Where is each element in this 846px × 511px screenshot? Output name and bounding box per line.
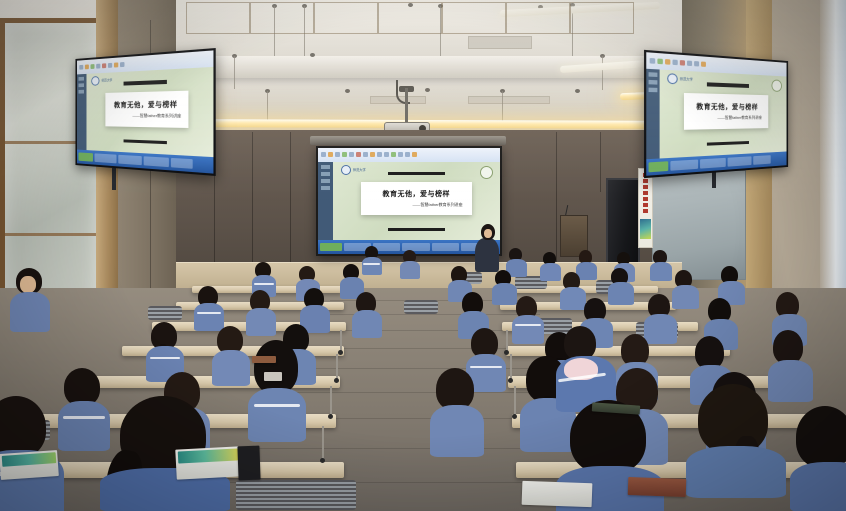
toolbar-icon[interactable] [384, 152, 389, 157]
toolbar-icon[interactable] [335, 152, 340, 157]
taskbar-clock[interactable] [753, 155, 770, 165]
classroom-scene: 师范大学 教育无他，爱与榜样 ——智慧father教育系列讲座 [0, 0, 846, 511]
cabinet-door [186, 2, 250, 34]
toolbar-icon[interactable] [377, 152, 382, 157]
university-seal-icon [92, 76, 100, 86]
start-button[interactable] [649, 161, 669, 172]
cabinet-door [250, 2, 314, 34]
suspension-wire [502, 91, 503, 122]
student-uniform [560, 287, 586, 310]
toolbar-icon[interactable] [672, 59, 677, 65]
panel-seam [556, 132, 557, 262]
panel-seam [600, 132, 601, 192]
slide-title: 教育无他，爱与榜样 [383, 189, 451, 199]
desk-caster [328, 414, 333, 419]
open-textbook [522, 481, 593, 507]
taskbar-item[interactable] [432, 243, 459, 252]
student-uniform [650, 262, 672, 281]
toolbar-icon[interactable] [694, 61, 699, 67]
toolbar-icon[interactable] [356, 152, 361, 157]
device [264, 372, 282, 381]
screen-roller [310, 136, 506, 145]
toolbar-icon[interactable] [90, 64, 94, 69]
panel-seam [252, 132, 253, 282]
slide-bar-bottom [388, 228, 445, 231]
student-uniform [246, 308, 276, 336]
presenter [475, 238, 499, 272]
center-projection-screen[interactable]: 师范大学 教育无他，爱与榜样 ——智慧father教育系列讲座 [316, 146, 502, 256]
student-hair [564, 326, 596, 360]
toolbar-icon[interactable] [96, 63, 100, 68]
cabinet-door [442, 2, 506, 34]
desk-caster [320, 458, 325, 463]
projector-pole [405, 88, 408, 124]
desk-leg [510, 354, 512, 380]
university-seal-icon [341, 165, 351, 175]
toolbar-icon[interactable] [370, 152, 375, 157]
toolbar-icon[interactable] [349, 152, 354, 157]
taskbar-clock[interactable] [171, 158, 192, 169]
student-uniform [608, 282, 634, 305]
desk-leg [340, 330, 342, 352]
slide-title-card: 教育无他，爱与榜样 ——智慧father教育系列讲座 [361, 182, 472, 215]
toolbar-icon[interactable] [102, 63, 106, 68]
wall-poster [638, 168, 653, 248]
slide-subtitle: ——智慧father教育系列讲座 [132, 113, 181, 119]
slide-canvas: 师范大学 教育无他，爱与榜样 ——智慧father教育系列讲座 [86, 66, 213, 157]
toolbar-icon[interactable] [657, 58, 662, 64]
desk-caster [334, 378, 339, 383]
student-uniform [10, 292, 50, 332]
taskbar-item[interactable] [94, 154, 116, 164]
toolbar-icon[interactable] [79, 65, 83, 70]
notebook [237, 446, 260, 481]
ceiling-vent [468, 96, 550, 104]
student-uniform [362, 257, 382, 275]
slide-thumbnail-pane[interactable] [77, 73, 86, 150]
desk-leg [514, 386, 516, 416]
slide-canvas: 师范大学 教育无他，爱与榜样 ——智慧father教育系列讲座 [333, 162, 500, 240]
student-uniform [58, 401, 110, 451]
ceiling-mount [310, 53, 315, 57]
taskbar-item[interactable] [670, 160, 698, 171]
student-uniform [512, 315, 544, 344]
toolbar-icon[interactable] [687, 60, 692, 66]
slide-title-card: 教育无他，爱与榜样 ——智慧father教育系列讲座 [105, 91, 189, 128]
toolbar-icon[interactable] [412, 152, 417, 157]
chair-back [148, 306, 182, 320]
desk-caster [504, 350, 509, 355]
slide-title: 教育无他，爱与榜样 [114, 99, 178, 110]
student-uniform [352, 310, 382, 338]
student-face [20, 276, 36, 293]
student-hair [773, 330, 803, 364]
student-uniform [686, 446, 786, 498]
student-uniform [790, 462, 846, 511]
slide-thumbnail-pane[interactable] [318, 162, 333, 240]
toolbar-icon[interactable] [701, 61, 706, 66]
start-button[interactable] [320, 243, 342, 252]
slide-bar-top [706, 83, 749, 88]
toolbar-icon[interactable] [363, 152, 368, 157]
toolbar-icon[interactable] [328, 152, 333, 157]
cabinet-door [314, 2, 378, 34]
student-hair [796, 406, 846, 468]
suspension-wire [267, 91, 268, 122]
slide-bar-bottom [124, 140, 167, 145]
student-uniform [768, 360, 813, 402]
chair-back [236, 480, 356, 510]
taskbar-item[interactable] [728, 157, 752, 167]
student-uniform [194, 303, 224, 331]
toolbar-icon[interactable] [680, 60, 685, 66]
student-uniform [644, 314, 677, 344]
ceiling-mount [345, 89, 350, 93]
toolbar-icon[interactable] [398, 152, 403, 157]
taskbar-item[interactable] [144, 156, 170, 167]
desk-caster [338, 350, 343, 355]
taskbar-item[interactable] [700, 158, 726, 169]
student-uniform [672, 285, 699, 309]
student-uniform [400, 261, 420, 279]
toolbar-icon[interactable] [120, 62, 124, 67]
student-hair [436, 368, 474, 410]
desk-leg [330, 386, 332, 416]
student-uniform [430, 405, 484, 457]
institution-logo: 师范大学 [92, 75, 113, 85]
toolbar-icon[interactable] [108, 63, 112, 68]
slide-thumbnail-pane[interactable] [646, 68, 659, 159]
office-toolbar[interactable] [318, 148, 500, 163]
toolbar-icon[interactable] [114, 62, 118, 67]
slide-bar-top [124, 80, 167, 85]
toolbar-icon[interactable] [342, 152, 347, 157]
toolbar-icon[interactable] [650, 58, 656, 64]
slide-bar-top [388, 172, 445, 175]
ceiling-mount [575, 89, 580, 93]
toolbar-icon[interactable] [85, 64, 89, 69]
slide-subtitle: ——智慧father教育系列讲座 [717, 115, 761, 121]
left-wall-monitor[interactable]: 师范大学 教育无他，爱与榜样 ——智慧father教育系列讲座 [75, 48, 215, 176]
powerpoint-window[interactable]: 师范大学 教育无他，爱与榜样 ——智慧father教育系列讲座 [77, 50, 214, 173]
institution-logo: 师范大学 [341, 165, 366, 175]
ceiling-mount [425, 88, 430, 92]
right-wall-monitor[interactable]: 师范大学 教育无他，爱与榜样 ——智慧father教育系列讲座 [644, 50, 788, 178]
slide-title-card: 教育无他，爱与榜样 ——智慧father教育系列讲座 [684, 93, 767, 130]
suspension-wire [602, 56, 603, 90]
decorative-seal-icon [480, 166, 493, 179]
toolbar-icon[interactable] [405, 152, 410, 157]
toolbar-icon[interactable] [321, 152, 326, 157]
desk-leg [506, 330, 508, 352]
slide-bar-bottom [706, 141, 749, 146]
institution-label: 师范大学 [353, 167, 366, 172]
monitor-bracket [112, 168, 116, 190]
chair-back [404, 300, 438, 314]
notebook [628, 477, 687, 497]
presenter-face [484, 229, 492, 238]
student-uniform [248, 388, 306, 442]
slide-subtitle: ——智慧father教育系列讲座 [412, 202, 462, 208]
suspension-wire [234, 56, 235, 89]
student-hair [254, 340, 298, 394]
slide-canvas: 师范大学 教育无他，爱与榜样 ——智慧father教育系列讲座 [660, 69, 787, 159]
university-seal-icon [667, 73, 678, 84]
desk-caster [512, 414, 517, 419]
start-button[interactable] [79, 153, 93, 162]
slide-title: 教育无他，爱与榜样 [696, 102, 758, 113]
decorative-seal-icon [772, 79, 782, 91]
panel-seam [290, 132, 291, 282]
powerpoint-window[interactable]: 师范大学 教育无他，爱与榜样 ——智慧father教育系列讲座 [318, 148, 500, 254]
student-uniform [212, 350, 250, 386]
desk-leg [322, 426, 324, 460]
student-uniform [540, 263, 561, 281]
student-uniform [492, 283, 517, 305]
powerpoint-window[interactable]: 师范大学 教育无他，爱与榜样 ——智慧father教育系列讲座 [646, 52, 786, 176]
toolbar-icon[interactable] [665, 59, 670, 65]
cabinet-door [570, 2, 634, 34]
institution-label: 师范大学 [101, 78, 112, 83]
ceiling-vent [468, 36, 532, 49]
desk-caster [508, 378, 513, 383]
desk-leg [336, 354, 338, 380]
cabinet-door [378, 2, 442, 34]
taskbar-item[interactable] [118, 155, 142, 165]
notebook [252, 356, 276, 363]
institution-logo: 师范大学 [667, 73, 693, 85]
institution-label: 师范大学 [680, 76, 693, 82]
toolbar-icon[interactable] [391, 152, 396, 157]
cabinet-door [506, 2, 570, 34]
